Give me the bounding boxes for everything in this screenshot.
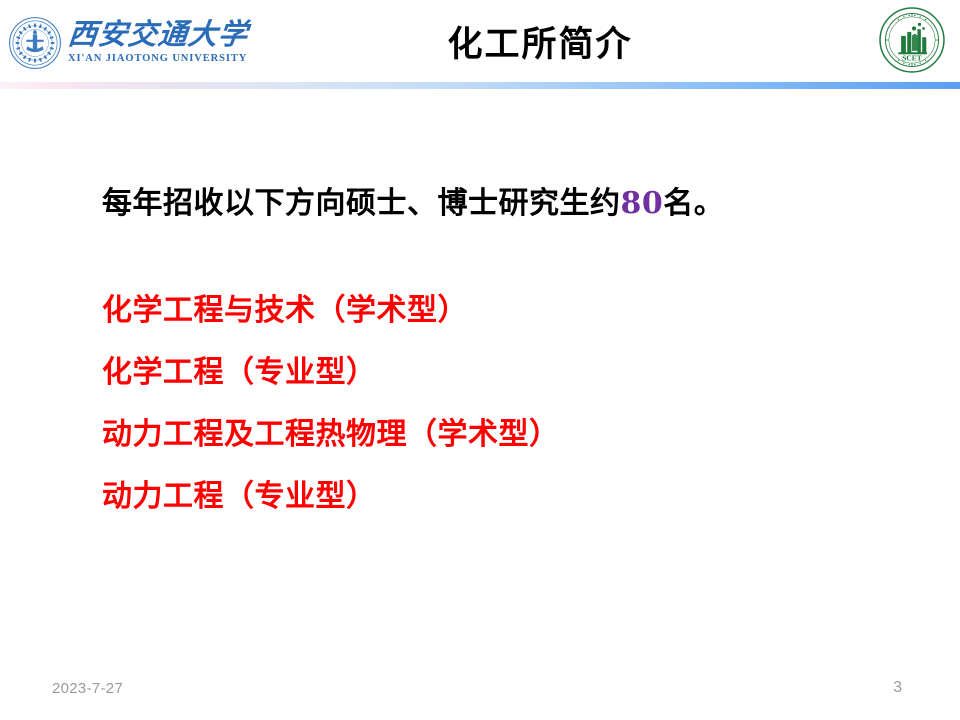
list-item: 动力工程（专业型） xyxy=(102,482,862,512)
scet-emblem-icon: SCET xyxy=(878,6,946,74)
list-item: 化学工程与技术（学术型） xyxy=(102,296,862,326)
list-item: 动力工程及工程热物理（学术型） xyxy=(102,420,862,450)
page-title: 化工所简介 xyxy=(230,16,850,67)
xjtu-seal-icon xyxy=(8,16,62,70)
presentation-slide: 西安交通大学 XI'AN JIAOTONG UNIVERSITY 化工所简介 xyxy=(0,0,960,720)
list-item: 化学工程（专业型） xyxy=(102,358,862,388)
page-number: 3 xyxy=(893,679,902,697)
xjtu-wordmark: 西安交通大学 XI'AN JIAOTONG UNIVERSITY xyxy=(68,21,248,65)
slide-body: 每年招收以下方向硕士、博士研究生约80名。 化学工程与技术（学术型） 化学工程（… xyxy=(0,84,960,644)
slide-footer: 2023-7-27 3 xyxy=(0,660,960,720)
scet-acronym: SCET xyxy=(902,53,922,62)
enrollment-prefix: 每年招收以下方向硕士、博士研究生约 xyxy=(102,186,621,221)
xjtu-logo: 西安交通大学 XI'AN JIAOTONG UNIVERSITY xyxy=(8,14,208,72)
enrollment-statement: 每年招收以下方向硕士、博士研究生约80名。 xyxy=(102,178,724,222)
xjtu-wordmark-en: XI'AN JIAOTONG UNIVERSITY xyxy=(68,54,248,65)
enrollment-count: 80 xyxy=(621,186,664,221)
footer-date: 2023-7-27 xyxy=(52,680,123,697)
enrollment-suffix: 名。 xyxy=(663,186,724,221)
major-list: 化学工程与技术（学术型） 化学工程（专业型） 动力工程及工程热物理（学术型） 动… xyxy=(102,296,862,512)
xjtu-wordmark-cn: 西安交通大学 xyxy=(66,21,249,50)
slide-header: 西安交通大学 XI'AN JIAOTONG UNIVERSITY 化工所简介 xyxy=(0,0,960,84)
